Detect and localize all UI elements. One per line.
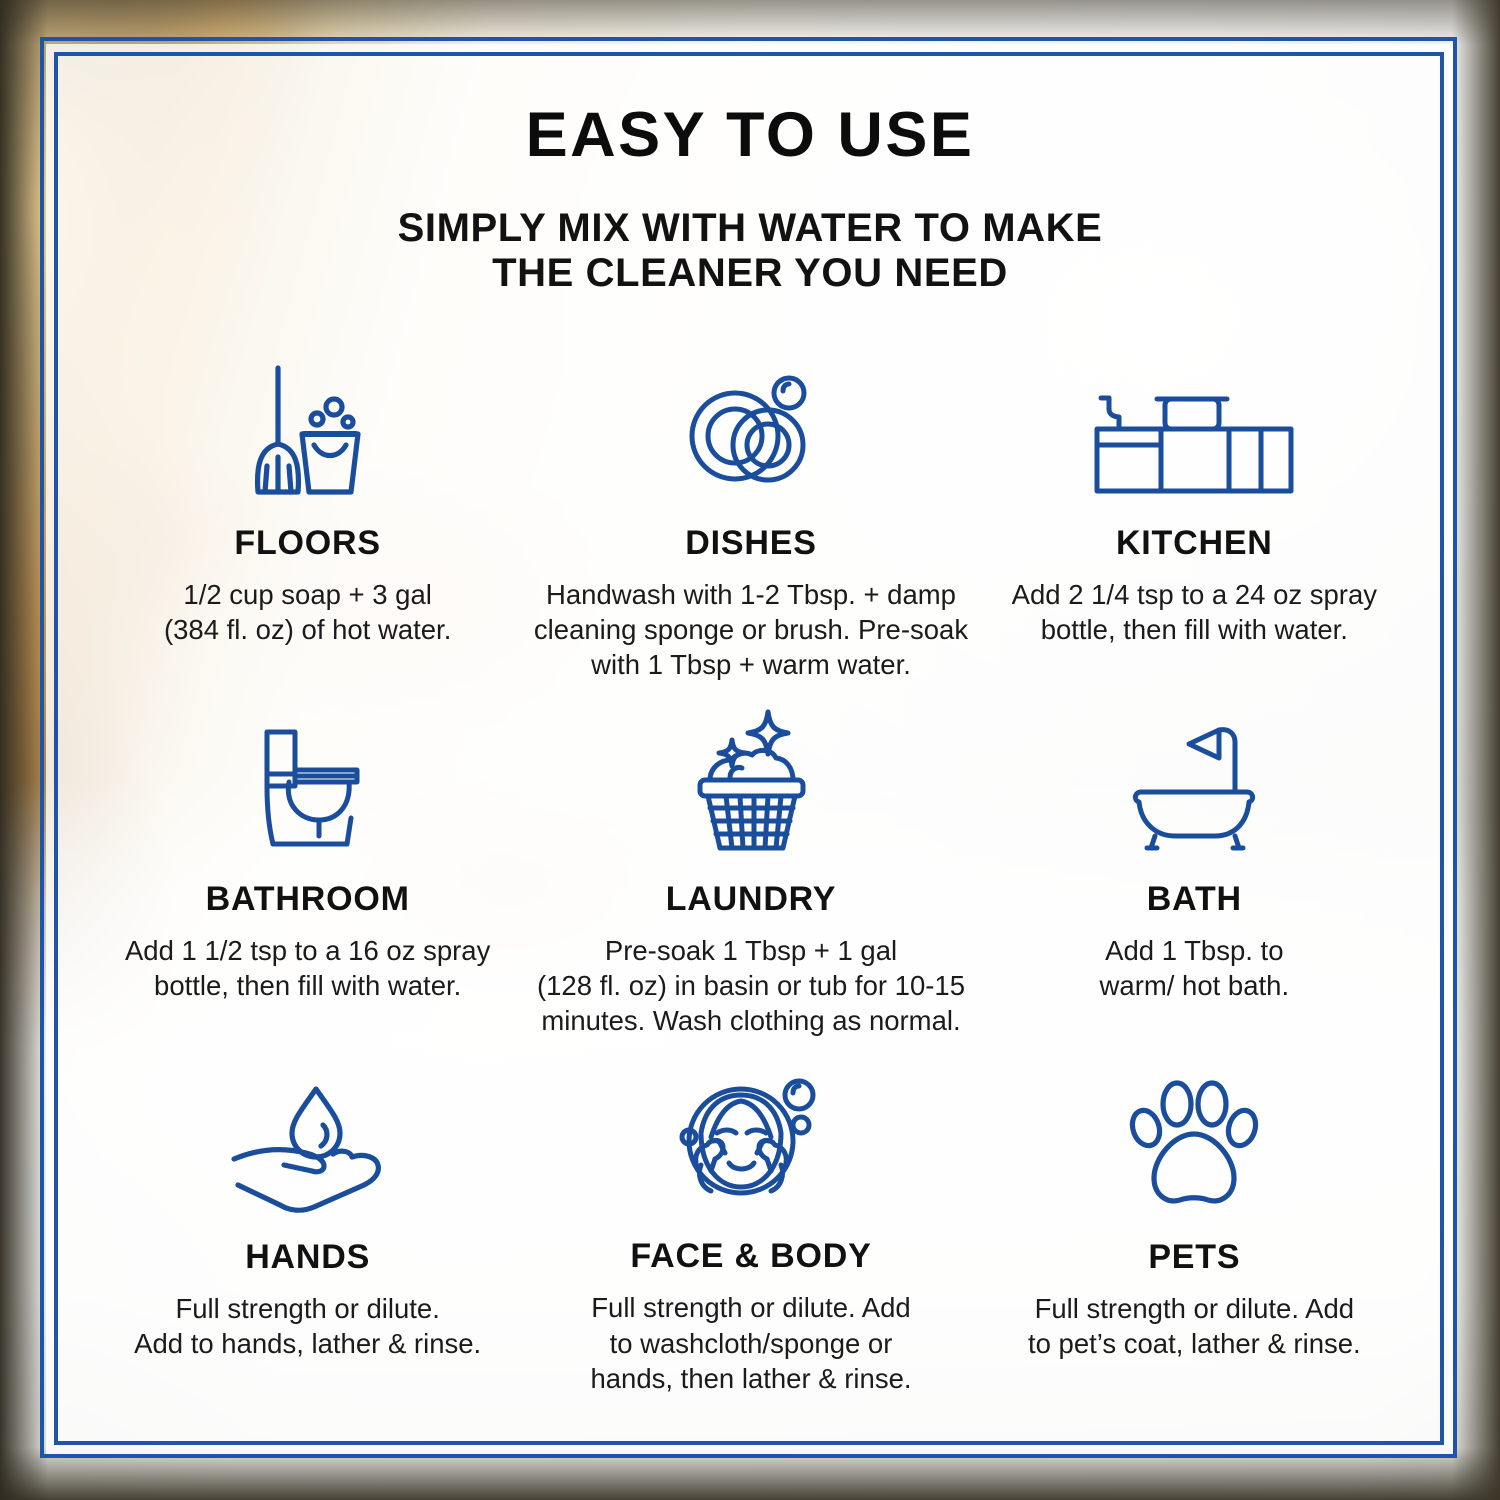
paw-print-icon <box>1124 1066 1264 1216</box>
use-card-pets: PETS Full strength or dilute. Add to pet… <box>973 1066 1416 1396</box>
broom-bucket-icon <box>238 352 378 502</box>
use-desc-line: warm/ hot bath. <box>1100 968 1290 1003</box>
page-subtitle: SIMPLY MIX WITH WATER TO MAKE THE CLEANE… <box>0 206 1500 296</box>
use-desc-floors: 1/2 cup soap + 3 gal (384 fl. oz) of hot… <box>164 577 451 647</box>
use-title-dishes: DISHES <box>685 526 816 560</box>
use-desc-dishes: Handwash with 1-2 Tbsp. + damp cleaning … <box>534 577 968 683</box>
use-card-kitchen: KITCHEN Add 2 1/4 tsp to a 24 oz spray b… <box>973 352 1416 708</box>
use-desc-line: 1/2 cup soap + 3 gal <box>164 577 451 612</box>
plates-bubble-icon <box>676 352 826 502</box>
use-desc-line: (128 fl. oz) in basin or tub for 10-15 <box>537 968 965 1003</box>
use-desc-bathroom: Add 1 1/2 tsp to a 16 oz spray bottle, t… <box>125 933 490 1003</box>
use-desc-kitchen: Add 2 1/4 tsp to a 24 oz spray bottle, t… <box>1012 577 1377 647</box>
toilet-icon <box>233 708 383 858</box>
use-desc-line: Add to hands, lather & rinse. <box>134 1326 481 1361</box>
hand-droplet-icon <box>228 1066 388 1216</box>
bathtub-shower-icon <box>1119 708 1269 858</box>
use-desc-line: bottle, then fill with water. <box>1012 612 1377 647</box>
poster-content: EASY TO USE SIMPLY MIX WITH WATER TO MAK… <box>0 0 1500 1500</box>
use-card-bathroom: BATHROOM Add 1 1/2 tsp to a 16 oz spray … <box>86 708 529 1066</box>
uses-row-2: BATHROOM Add 1 1/2 tsp to a 16 oz spray … <box>86 708 1416 1066</box>
use-card-hands: HANDS Full strength or dilute. Add to ha… <box>86 1066 529 1396</box>
use-desc-bath: Add 1 Tbsp. to warm/ hot bath. <box>1100 933 1290 1003</box>
use-desc-line: Handwash with 1-2 Tbsp. + damp <box>534 577 968 612</box>
uses-grid: FLOORS 1/2 cup soap + 3 gal (384 fl. oz)… <box>86 352 1416 1396</box>
use-desc-line: Add 1 1/2 tsp to a 16 oz spray <box>125 933 490 968</box>
face-washing-icon <box>671 1066 831 1215</box>
use-desc-line: Full strength or dilute. <box>134 1291 481 1326</box>
use-desc-line: Full strength or dilute. Add <box>590 1290 911 1325</box>
laundry-basket-icon <box>676 708 826 858</box>
use-desc-line: to pet’s coat, lather & rinse. <box>1028 1326 1361 1361</box>
use-card-bath: BATH Add 1 Tbsp. to warm/ hot bath. <box>973 708 1416 1066</box>
use-title-face-body: FACE & BODY <box>630 1239 871 1273</box>
subtitle-line-1: SIMPLY MIX WITH WATER TO MAKE <box>0 206 1500 251</box>
use-desc-laundry: Pre-soak 1 Tbsp + 1 gal (128 fl. oz) in … <box>537 933 965 1039</box>
use-desc-line: bottle, then fill with water. <box>125 968 490 1003</box>
use-desc-face-body: Full strength or dilute. Add to washclot… <box>590 1290 911 1396</box>
use-desc-line: Add 2 1/4 tsp to a 24 oz spray <box>1012 577 1377 612</box>
use-desc-pets: Full strength or dilute. Add to pet’s co… <box>1028 1291 1361 1361</box>
use-desc-line: Pre-soak 1 Tbsp + 1 gal <box>537 933 965 968</box>
kitchen-counter-icon <box>1089 352 1299 502</box>
use-title-floors: FLOORS <box>234 526 380 560</box>
use-desc-line: Add 1 Tbsp. to <box>1100 933 1290 968</box>
use-desc-line: with 1 Tbsp + warm water. <box>534 647 968 682</box>
use-desc-line: to washcloth/sponge or <box>590 1326 911 1361</box>
use-title-bath: BATH <box>1147 882 1242 916</box>
use-card-face-body: FACE & BODY Full strength or dilute. Add… <box>529 1066 972 1396</box>
use-desc-line: Full strength or dilute. Add <box>1028 1291 1361 1326</box>
use-title-kitchen: KITCHEN <box>1116 526 1273 560</box>
use-title-laundry: LAUNDRY <box>666 882 837 916</box>
use-desc-line: hands, then lather & rinse. <box>590 1361 911 1396</box>
use-card-floors: FLOORS 1/2 cup soap + 3 gal (384 fl. oz)… <box>86 352 529 708</box>
use-desc-line: minutes. Wash clothing as normal. <box>537 1003 965 1038</box>
use-card-laundry: LAUNDRY Pre-soak 1 Tbsp + 1 gal (128 fl.… <box>529 708 972 1066</box>
use-desc-line: (384 fl. oz) of hot water. <box>164 612 451 647</box>
use-card-dishes: DISHES Handwash with 1-2 Tbsp. + damp cl… <box>529 352 972 708</box>
use-desc-line: cleaning sponge or brush. Pre-soak <box>534 612 968 647</box>
uses-row-1: FLOORS 1/2 cup soap + 3 gal (384 fl. oz)… <box>86 352 1416 708</box>
poster-root: EASY TO USE SIMPLY MIX WITH WATER TO MAK… <box>0 0 1500 1500</box>
use-desc-hands: Full strength or dilute. Add to hands, l… <box>134 1291 481 1361</box>
use-title-pets: PETS <box>1148 1240 1240 1274</box>
uses-row-3: HANDS Full strength or dilute. Add to ha… <box>86 1066 1416 1396</box>
use-title-bathroom: BATHROOM <box>206 882 410 916</box>
subtitle-line-2: THE CLEANER YOU NEED <box>0 251 1500 296</box>
use-title-hands: HANDS <box>245 1240 370 1274</box>
page-title: EASY TO USE <box>0 104 1500 167</box>
